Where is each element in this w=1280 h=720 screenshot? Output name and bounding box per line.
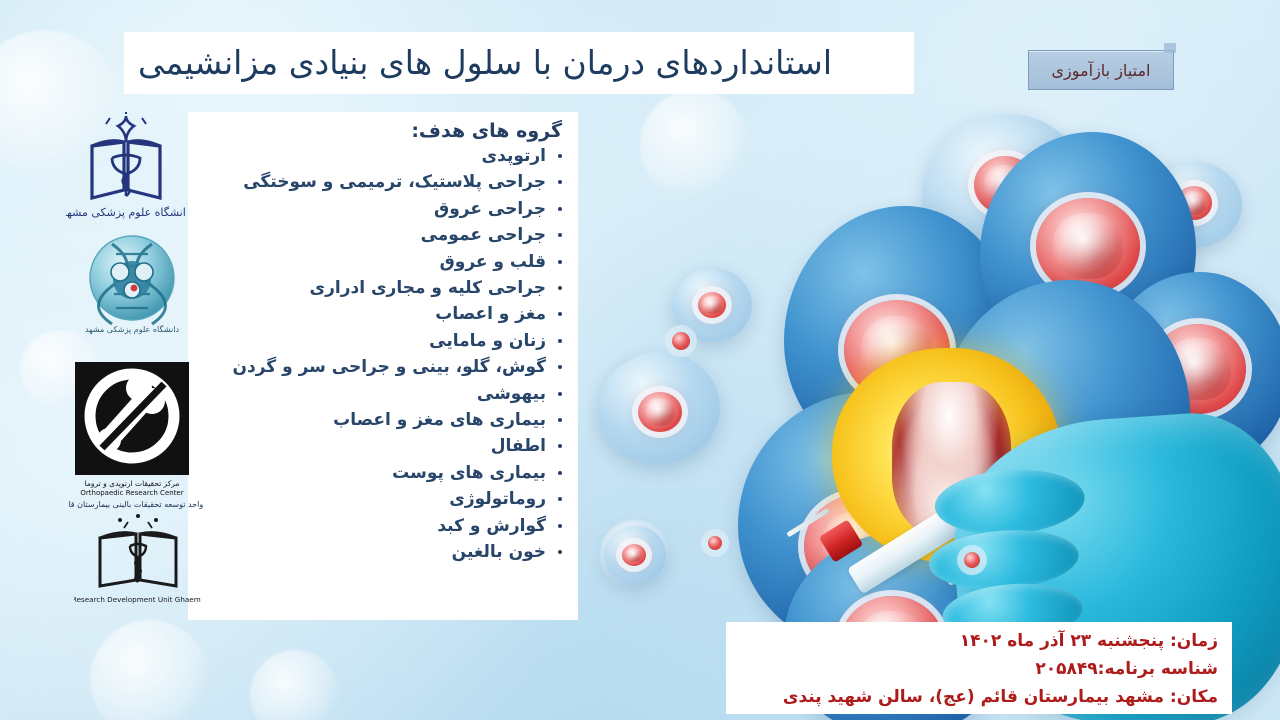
- list-item: مغز و اعصاب: [196, 301, 568, 327]
- list-item-label: جراحی عمومی: [421, 225, 546, 245]
- bullet-icon: [558, 286, 562, 290]
- list-item: گوش، گلو، بینی و جراحی سر و گردن: [196, 354, 568, 380]
- retraining-credit-badge-label: امتیاز بازآموزی: [1052, 61, 1151, 80]
- logo-orthopaedic-research-center: مرکز تحقیقات ارتوپدی و تروما Orthopaedic…: [68, 362, 204, 510]
- list-item-label: زنان و مامایی: [429, 331, 546, 351]
- bullet-icon: [558, 524, 562, 528]
- bullet-icon: [558, 365, 562, 369]
- list-item: روماتولوژی: [196, 486, 568, 512]
- open-book-caduceus-icon: Clinical Research Development Unit Ghaem…: [74, 512, 202, 608]
- retraining-credit-badge[interactable]: امتیاز بازآموزی: [1028, 50, 1174, 90]
- list-item-label: خون بالغین: [452, 542, 546, 562]
- list-item-label: جراحی پلاستیک، ترمیمی و سوختگی: [243, 172, 546, 192]
- bullet-icon: [558, 312, 562, 316]
- organ-illustration: [702, 296, 721, 314]
- logo-caption: دانشگاه علوم پزشکی مشهد: [66, 206, 186, 219]
- list-item: جراحی کلیه و مجاری ادراری: [196, 275, 568, 301]
- list-item: گوارش و کبد: [196, 513, 568, 539]
- logo-mashhad-university-of-medical-sciences: دانشگاه علوم پزشکی مشهد: [66, 112, 186, 224]
- list-item: بیماری های مغز و اعصاب: [196, 407, 568, 433]
- page-title-text: استانداردهای درمان با سلول های بنیادی مز…: [138, 44, 832, 82]
- event-venue: مکان: مشهد بیمارستان قائم (عج)، سالن شهی…: [736, 683, 1218, 711]
- bullet-icon: [558, 418, 562, 422]
- list-item-label: مغز و اعصاب: [435, 304, 546, 324]
- book-and-bowl-of-hygieia-icon: دانشگاه علوم پزشکی مشهد: [66, 112, 186, 224]
- list-item: ارتوپدی: [196, 143, 568, 169]
- organ-illustration: [645, 398, 675, 425]
- bullet-icon: [558, 180, 562, 184]
- event-time: زمان: پنجشنبه ۲۳ آذر ماه ۱۴۰۲: [736, 627, 1218, 655]
- bullet-icon: [558, 260, 562, 264]
- list-item-label: جراحی کلیه و مجاری ادراری: [310, 278, 546, 298]
- list-item-label: اطفال: [491, 436, 546, 456]
- dna-cell-roundel-icon: دانشگاه علوم پزشکی مشهد: [74, 232, 190, 336]
- organ-illustration-bone: [1053, 213, 1124, 278]
- list-item-label: قلب و عروق: [440, 252, 546, 272]
- target-groups-panel: گروه های هدف: ارتوپدی جراحی پلاستیک، ترم…: [188, 112, 578, 620]
- list-item-label: بیماری های پوست: [392, 463, 546, 483]
- bone-in-circle-icon: مرکز تحقیقات ارتوپدی و تروما Orthopaedic…: [68, 362, 204, 510]
- logo-caption-fa: مرکز تحقیقات ارتوپدی و تروما: [85, 479, 180, 488]
- cell-nucleus: [1036, 198, 1140, 294]
- logo-caption: دانشگاه علوم پزشکی مشهد: [85, 324, 180, 334]
- event-info-box: زمان: پنجشنبه ۲۳ آذر ماه ۱۴۰۲ شناسه برنا…: [726, 622, 1232, 714]
- poster: استانداردهای درمان با سلول های بنیادی مز…: [0, 0, 1280, 720]
- page-title: استانداردهای درمان با سلول های بنیادی مز…: [124, 32, 914, 94]
- red-cell-speck: [672, 332, 690, 350]
- cell-nucleus: [622, 544, 646, 566]
- bullet-icon: [558, 207, 562, 211]
- list-item: جراحی عروق: [196, 196, 568, 222]
- list-item: زنان و مامایی: [196, 328, 568, 354]
- red-cell-speck: [708, 536, 722, 550]
- list-item-label: گوش، گلو، بینی و جراحی سر و گردن: [232, 357, 546, 377]
- bullet-icon: [558, 550, 562, 554]
- list-item: خون بالغین: [196, 539, 568, 565]
- list-item-label: ارتوپدی: [482, 146, 546, 166]
- list-item-label: بیهوشی: [477, 384, 546, 404]
- list-item-label: جراحی عروق: [434, 199, 546, 219]
- bullet-icon: [558, 154, 562, 158]
- list-item: جراحی عمومی: [196, 222, 568, 248]
- target-groups-list: ارتوپدی جراحی پلاستیک، ترمیمی و سوختگی ج…: [196, 143, 568, 566]
- bullet-icon: [558, 233, 562, 237]
- bullet-icon: [558, 339, 562, 343]
- bullet-icon: [558, 471, 562, 475]
- list-item-label: بیماری های مغز و اعصاب: [333, 410, 546, 430]
- red-cell-speck: [964, 552, 980, 568]
- logo-caption-en: Clinical Research Development Unit Ghaem…: [74, 595, 202, 604]
- logo-clinical-research-development-unit: Clinical Research Development Unit Ghaem…: [74, 512, 202, 608]
- target-groups-heading: گروه های هدف:: [196, 120, 568, 142]
- bullet-icon: [558, 444, 562, 448]
- list-item: قلب و عروق: [196, 249, 568, 275]
- logo-stem-cell-research-center: دانشگاه علوم پزشکی مشهد: [74, 232, 190, 336]
- list-item: جراحی پلاستیک، ترمیمی و سوختگی: [196, 169, 568, 195]
- list-item: بیهوشی: [196, 381, 568, 407]
- bullet-icon: [558, 392, 562, 396]
- logo-caption-en: Orthopaedic Research Center: [80, 489, 183, 497]
- cell-nucleus: [698, 292, 726, 318]
- list-item-label: روماتولوژی: [449, 489, 546, 509]
- list-item: بیماری های پوست: [196, 460, 568, 486]
- logo-caption-unit: واحد توسعه تحقیقات بالینی بیمارستان قائم: [68, 500, 203, 509]
- cell-nucleus: [638, 392, 682, 432]
- bullet-icon: [558, 497, 562, 501]
- organ-illustration: [626, 548, 642, 563]
- event-program-id: شناسه برنامه:۲۰۵۸۴۹: [736, 655, 1218, 683]
- list-item: اطفال: [196, 433, 568, 459]
- list-item-label: گوارش و کبد: [437, 516, 546, 536]
